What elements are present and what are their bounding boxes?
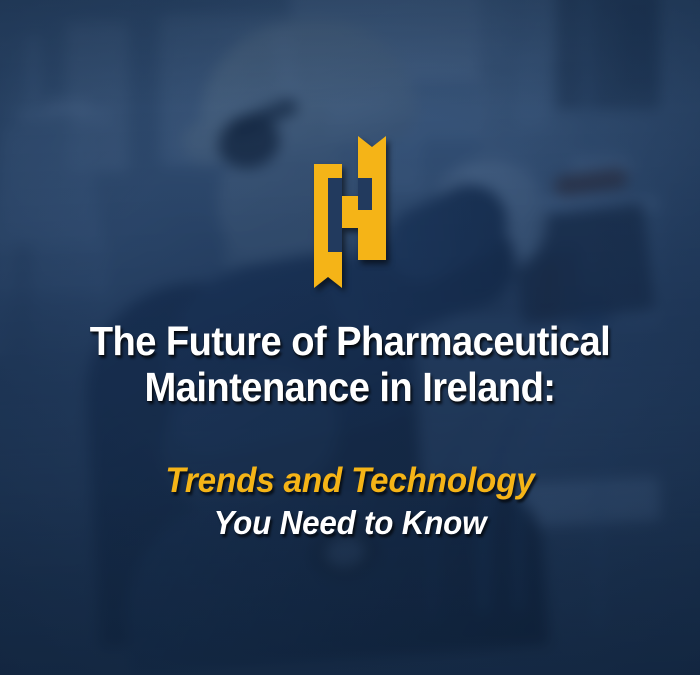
page-title-line-2: Maintenance in Ireland: (38, 364, 663, 410)
title-subtitle-spacer (14, 410, 686, 460)
page-subtitle-line-2: You Need to Know (31, 502, 669, 544)
article-hero-banner: The Future of Pharmaceutical Maintenance… (0, 0, 700, 675)
h-monogram-icon (296, 136, 404, 288)
hero-text-block: The Future of Pharmaceutical Maintenance… (0, 318, 700, 544)
page-subtitle-line-1: Trends and Technology (31, 460, 669, 502)
brand-logo (296, 136, 404, 288)
page-title-line-1: The Future of Pharmaceutical (38, 318, 663, 364)
